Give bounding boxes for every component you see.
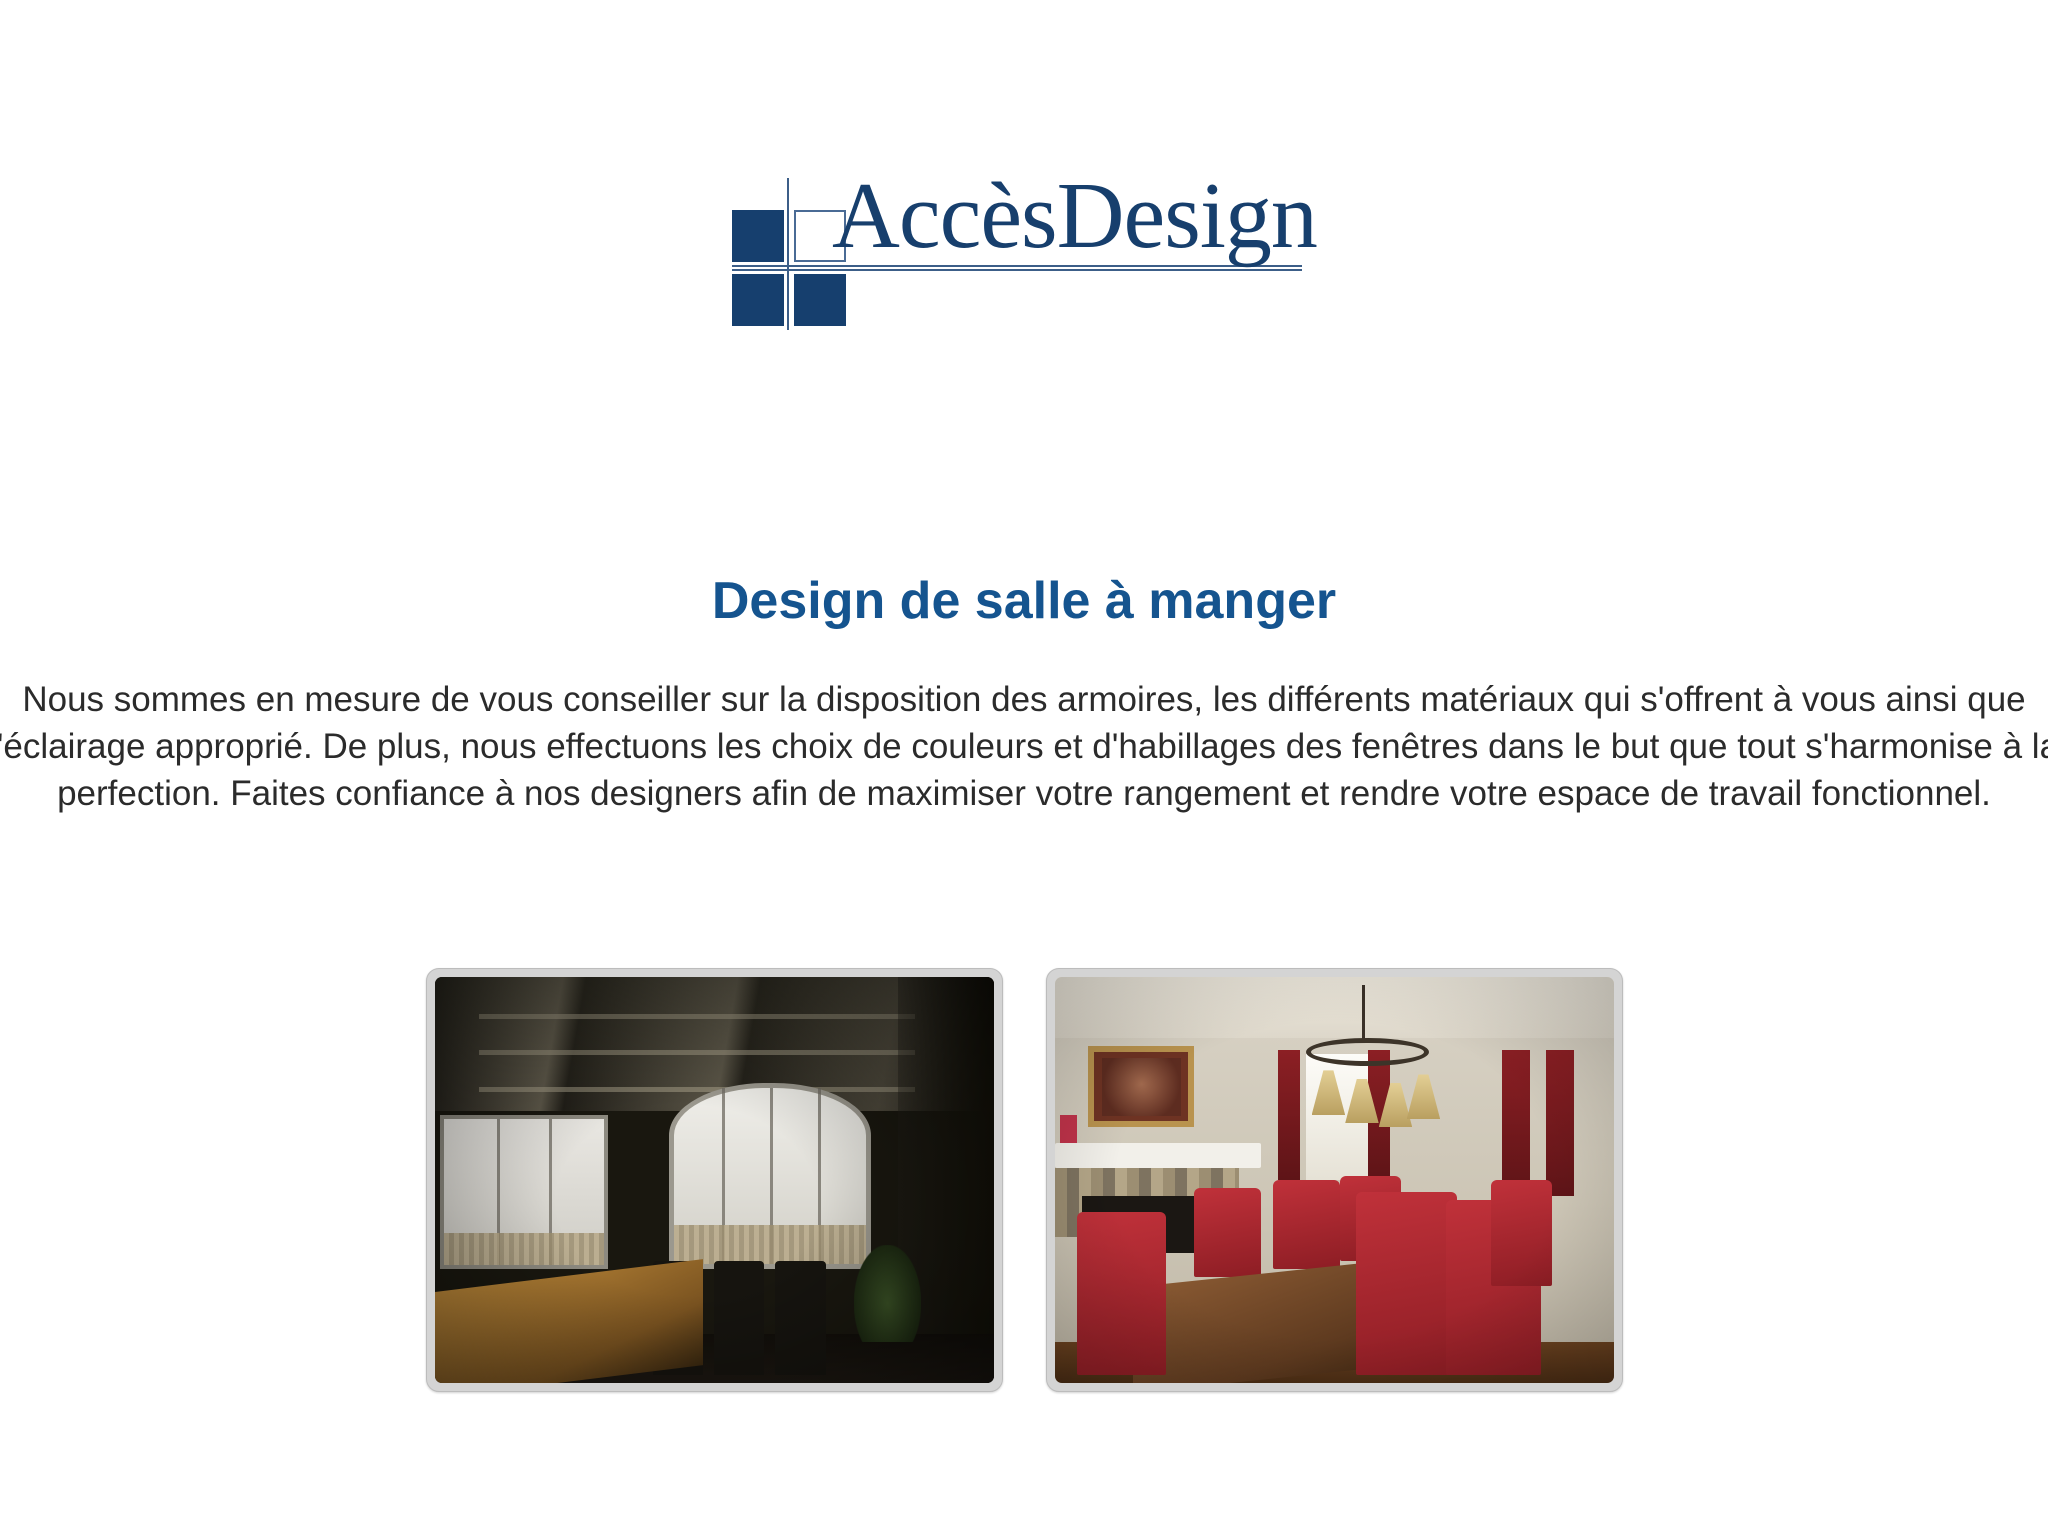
- page-title: Design de salle à manger: [0, 571, 2048, 631]
- logo-square-bottom-right-icon: [794, 274, 846, 326]
- logo-wordmark: AccèsDesign: [832, 166, 1317, 266]
- logo-horizontal-rule-lower: [732, 269, 1302, 271]
- logo-lockup: AccèsDesign: [724, 168, 1324, 328]
- logo-vertical-rule: [787, 178, 789, 330]
- intro-paragraph: Nous sommes en mesure de vous conseiller…: [0, 676, 2048, 817]
- photo-gallery: [0, 968, 2048, 1392]
- logo-square-top-left-icon: [732, 210, 784, 262]
- page-root: AccèsDesign Design de salle à manger Nou…: [0, 0, 2048, 1536]
- photo-vignette: [435, 977, 994, 1383]
- photo-frame-dining-room-dark[interactable]: [426, 968, 1003, 1392]
- logo-square-bottom-left-icon: [732, 274, 784, 326]
- photo-vignette: [1055, 977, 1614, 1383]
- site-logo[interactable]: AccèsDesign: [0, 168, 2048, 328]
- photo-frame-dining-room-red-chairs[interactable]: [1046, 968, 1623, 1392]
- photo-dining-room-red-chairs[interactable]: [1055, 977, 1614, 1383]
- photo-dining-room-dark[interactable]: [435, 977, 994, 1383]
